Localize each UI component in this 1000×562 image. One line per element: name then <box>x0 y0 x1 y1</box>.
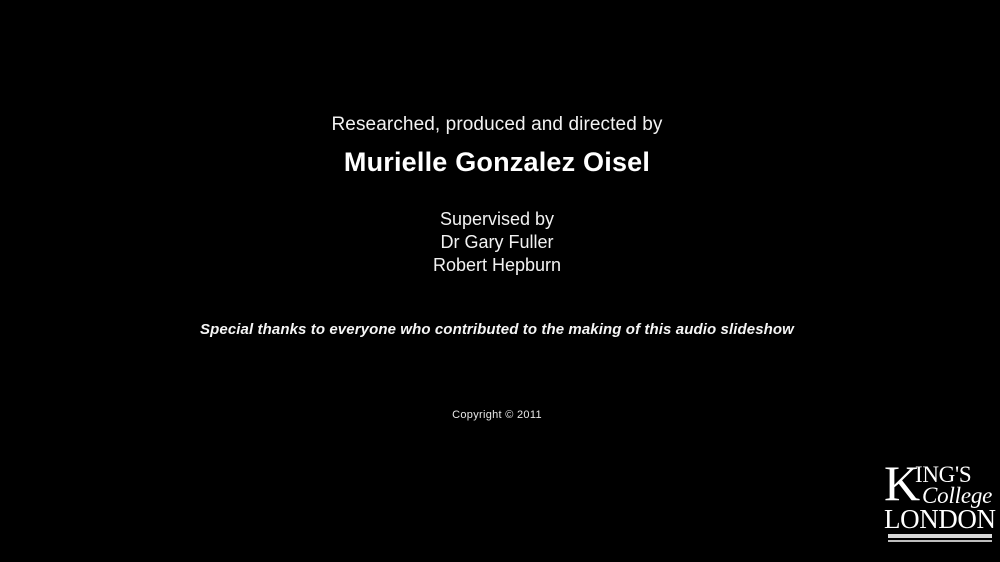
supervisor-name-1: Dr Gary Fuller <box>0 231 994 254</box>
logo-text-london: LONDON <box>884 506 996 533</box>
logo-rule-thick <box>888 534 992 538</box>
copyright-line: Copyright © 2011 <box>0 409 994 421</box>
logo-rule-thin <box>888 540 992 542</box>
logo-wordmark-top: K ING'S College LONDON <box>884 460 992 512</box>
end-credits-slide: Researched, produced and directed by Mur… <box>0 0 1000 562</box>
kings-college-london-logo: K ING'S College LONDON <box>884 460 992 546</box>
special-thanks-line: Special thanks to everyone who contribut… <box>0 321 994 338</box>
creator-name: Murielle Gonzalez Oisel <box>0 147 994 178</box>
supervisor-name-2: Robert Hepburn <box>0 254 994 277</box>
supervised-heading: Supervised by <box>0 208 994 231</box>
role-credit-line: Researched, produced and directed by <box>0 114 994 136</box>
supervisors-block: Supervised by Dr Gary Fuller Robert Hepb… <box>0 208 994 277</box>
logo-letter-k: K <box>884 458 919 508</box>
